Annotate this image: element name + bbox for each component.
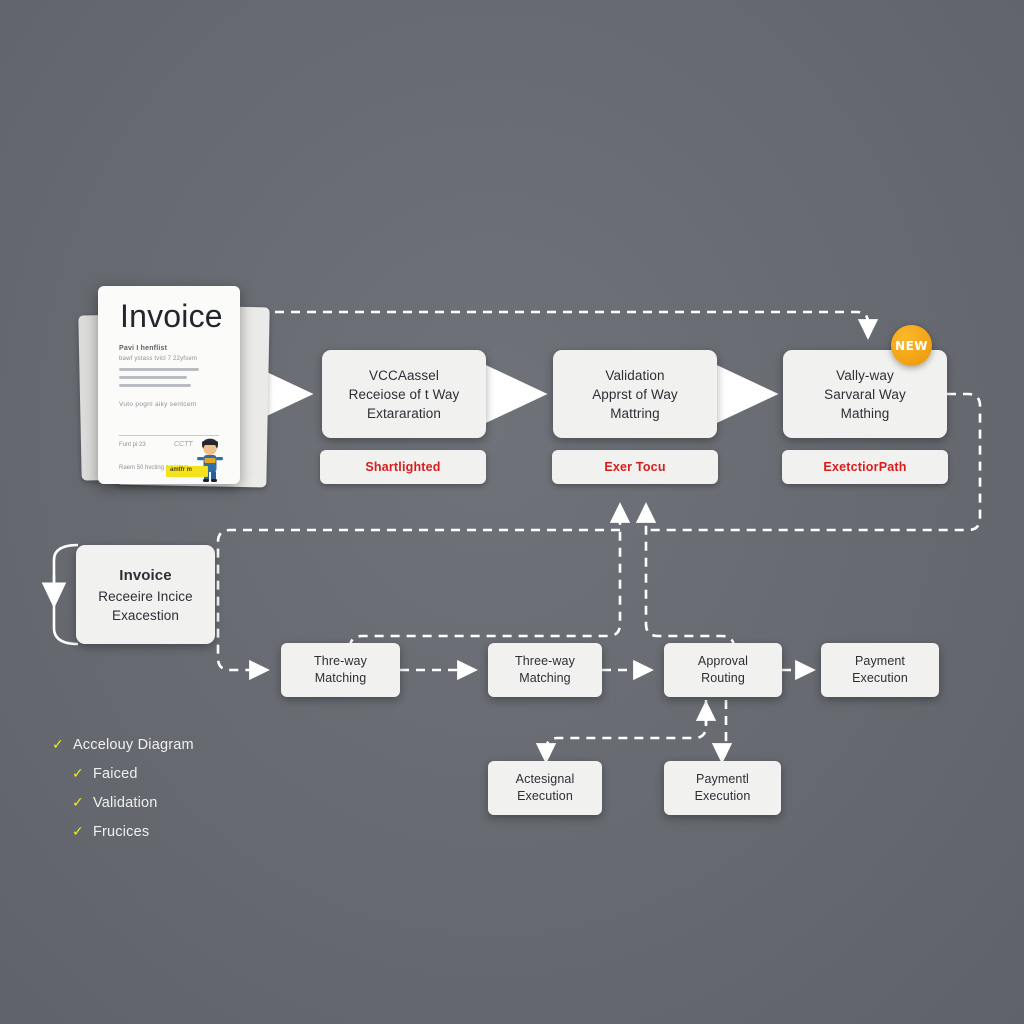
node-bot-1[interactable]: Actesignal Execution	[488, 761, 602, 815]
node-bot-2[interactable]: Paymentl Execution	[664, 761, 781, 815]
invoice-title: Invoice	[120, 298, 223, 335]
node-top-1-line-1: VCCAassel	[349, 366, 460, 385]
invoice-subtitle-bold: Pavi I henflist	[119, 345, 167, 352]
checklist-item-label: Faiced	[93, 766, 138, 782]
checklist-item[interactable]: ✓ Accelouy Diagram	[52, 736, 194, 753]
invoice-text-line	[119, 368, 199, 371]
node-mid-4[interactable]: Payment Execution	[821, 643, 939, 697]
node-top-2-line-3: Mattring	[592, 404, 678, 423]
node-bot-2-line-2: Execution	[695, 788, 751, 805]
node-top-1-tag[interactable]: Shartlighted	[320, 450, 486, 484]
node-mid-4-line-1: Payment	[852, 653, 908, 670]
node-top-1-line-2: Receiose of t Way	[349, 385, 460, 404]
node-mid-3-line-1: Approval	[698, 653, 748, 670]
invoice-text-line	[119, 384, 191, 387]
connector-layer	[0, 0, 1024, 1024]
checklist-item-label: Frucices	[93, 824, 149, 840]
node-mid-2-line-1: Three-way	[515, 653, 575, 670]
node-bot-1-line-2: Execution	[516, 788, 575, 805]
node-top-3-line-1: Vally-way	[824, 366, 906, 385]
node-top-1[interactable]: VCCAassel Receiose of t Way Extararation	[322, 350, 486, 438]
node-top-2-line-2: Apprst of Way	[592, 385, 678, 404]
node-bot-1-line-1: Actesignal	[516, 771, 575, 788]
checklist-item[interactable]: ✓ Validation	[72, 794, 194, 811]
node-invoice-receive[interactable]: Invoice Receeire Incice Exacestion	[76, 545, 215, 644]
invoice-footer-left: Funt pi 23	[119, 442, 146, 448]
node-top-1-tag-label: Shartlighted	[365, 460, 440, 474]
node-top-3-tag[interactable]: ExetctiorPath	[782, 450, 948, 484]
node-invoice-title: Invoice	[98, 565, 193, 587]
node-mid-3[interactable]: Approval Routing	[664, 643, 782, 697]
node-bot-2-line-1: Paymentl	[695, 771, 751, 788]
node-top-3[interactable]: Vally-way Sarvaral Way Mathing	[783, 350, 947, 438]
check-icon: ✓	[72, 794, 84, 811]
checklist-item-label: Accelouy Diagram	[73, 737, 194, 753]
node-mid-2[interactable]: Three-way Matching	[488, 643, 602, 697]
node-mid-3-line-2: Routing	[698, 670, 748, 687]
node-top-2-line-1: Validation	[592, 366, 678, 385]
node-top-2-tag[interactable]: Exer Tocu	[552, 450, 718, 484]
node-top-2[interactable]: Validation Apprst of Way Mattring	[553, 350, 717, 438]
check-icon: ✓	[52, 736, 64, 753]
node-mid-4-line-2: Execution	[852, 670, 908, 687]
node-mid-1[interactable]: Thre-way Matching	[281, 643, 400, 697]
check-icon: ✓	[72, 823, 84, 840]
node-invoice-line-2: Receeire Incice	[98, 587, 193, 606]
dashed-top-feedback	[243, 312, 868, 336]
invoice-text-line	[119, 376, 187, 379]
checklist-item[interactable]: ✓ Frucices	[72, 823, 194, 840]
checklist: ✓ Accelouy Diagram ✓ Faiced ✓ Validation…	[52, 736, 194, 852]
node-top-2-tag-label: Exer Tocu	[604, 460, 665, 474]
new-badge-label: NEW	[895, 339, 928, 353]
checklist-item-label: Validation	[93, 795, 158, 811]
invoice-footer-right: CCTT	[174, 441, 193, 448]
node-invoice-line-3: Exacestion	[98, 606, 193, 625]
invoice-note: Vuto pognl aiky sentcem	[119, 401, 196, 408]
solid-left-bracket	[54, 545, 78, 644]
node-mid-2-line-2: Matching	[515, 670, 575, 687]
node-mid-1-line-1: Thre-way	[314, 653, 367, 670]
invoice-highlight-label: amtfr m	[170, 467, 192, 473]
invoice-divider	[119, 435, 219, 436]
dashed-bottom-splits	[546, 700, 726, 760]
invoice-document-stack: Invoice Pavi I henflist bawf ystass tvlc…	[96, 286, 246, 486]
node-top-1-line-3: Extararation	[349, 404, 460, 423]
checklist-item[interactable]: ✓ Faiced	[72, 765, 194, 782]
node-mid-1-line-2: Matching	[314, 670, 367, 687]
diagram-canvas: Invoice Pavi I henflist bawf ystass tvlc…	[0, 0, 1024, 1024]
invoice-page-front: Invoice Pavi I henflist bawf ystass tvlc…	[98, 286, 240, 484]
node-top-3-line-2: Sarvaral Way	[824, 385, 906, 404]
node-top-3-tag-label: ExetctiorPath	[823, 460, 906, 474]
dashed-center-risers	[350, 506, 734, 648]
new-badge: NEW	[891, 325, 932, 366]
invoice-subtitle-small: bawf ystass tvlcl 7 22yfsem	[119, 356, 197, 362]
check-icon: ✓	[72, 765, 84, 782]
node-top-3-line-3: Mathing	[824, 404, 906, 423]
